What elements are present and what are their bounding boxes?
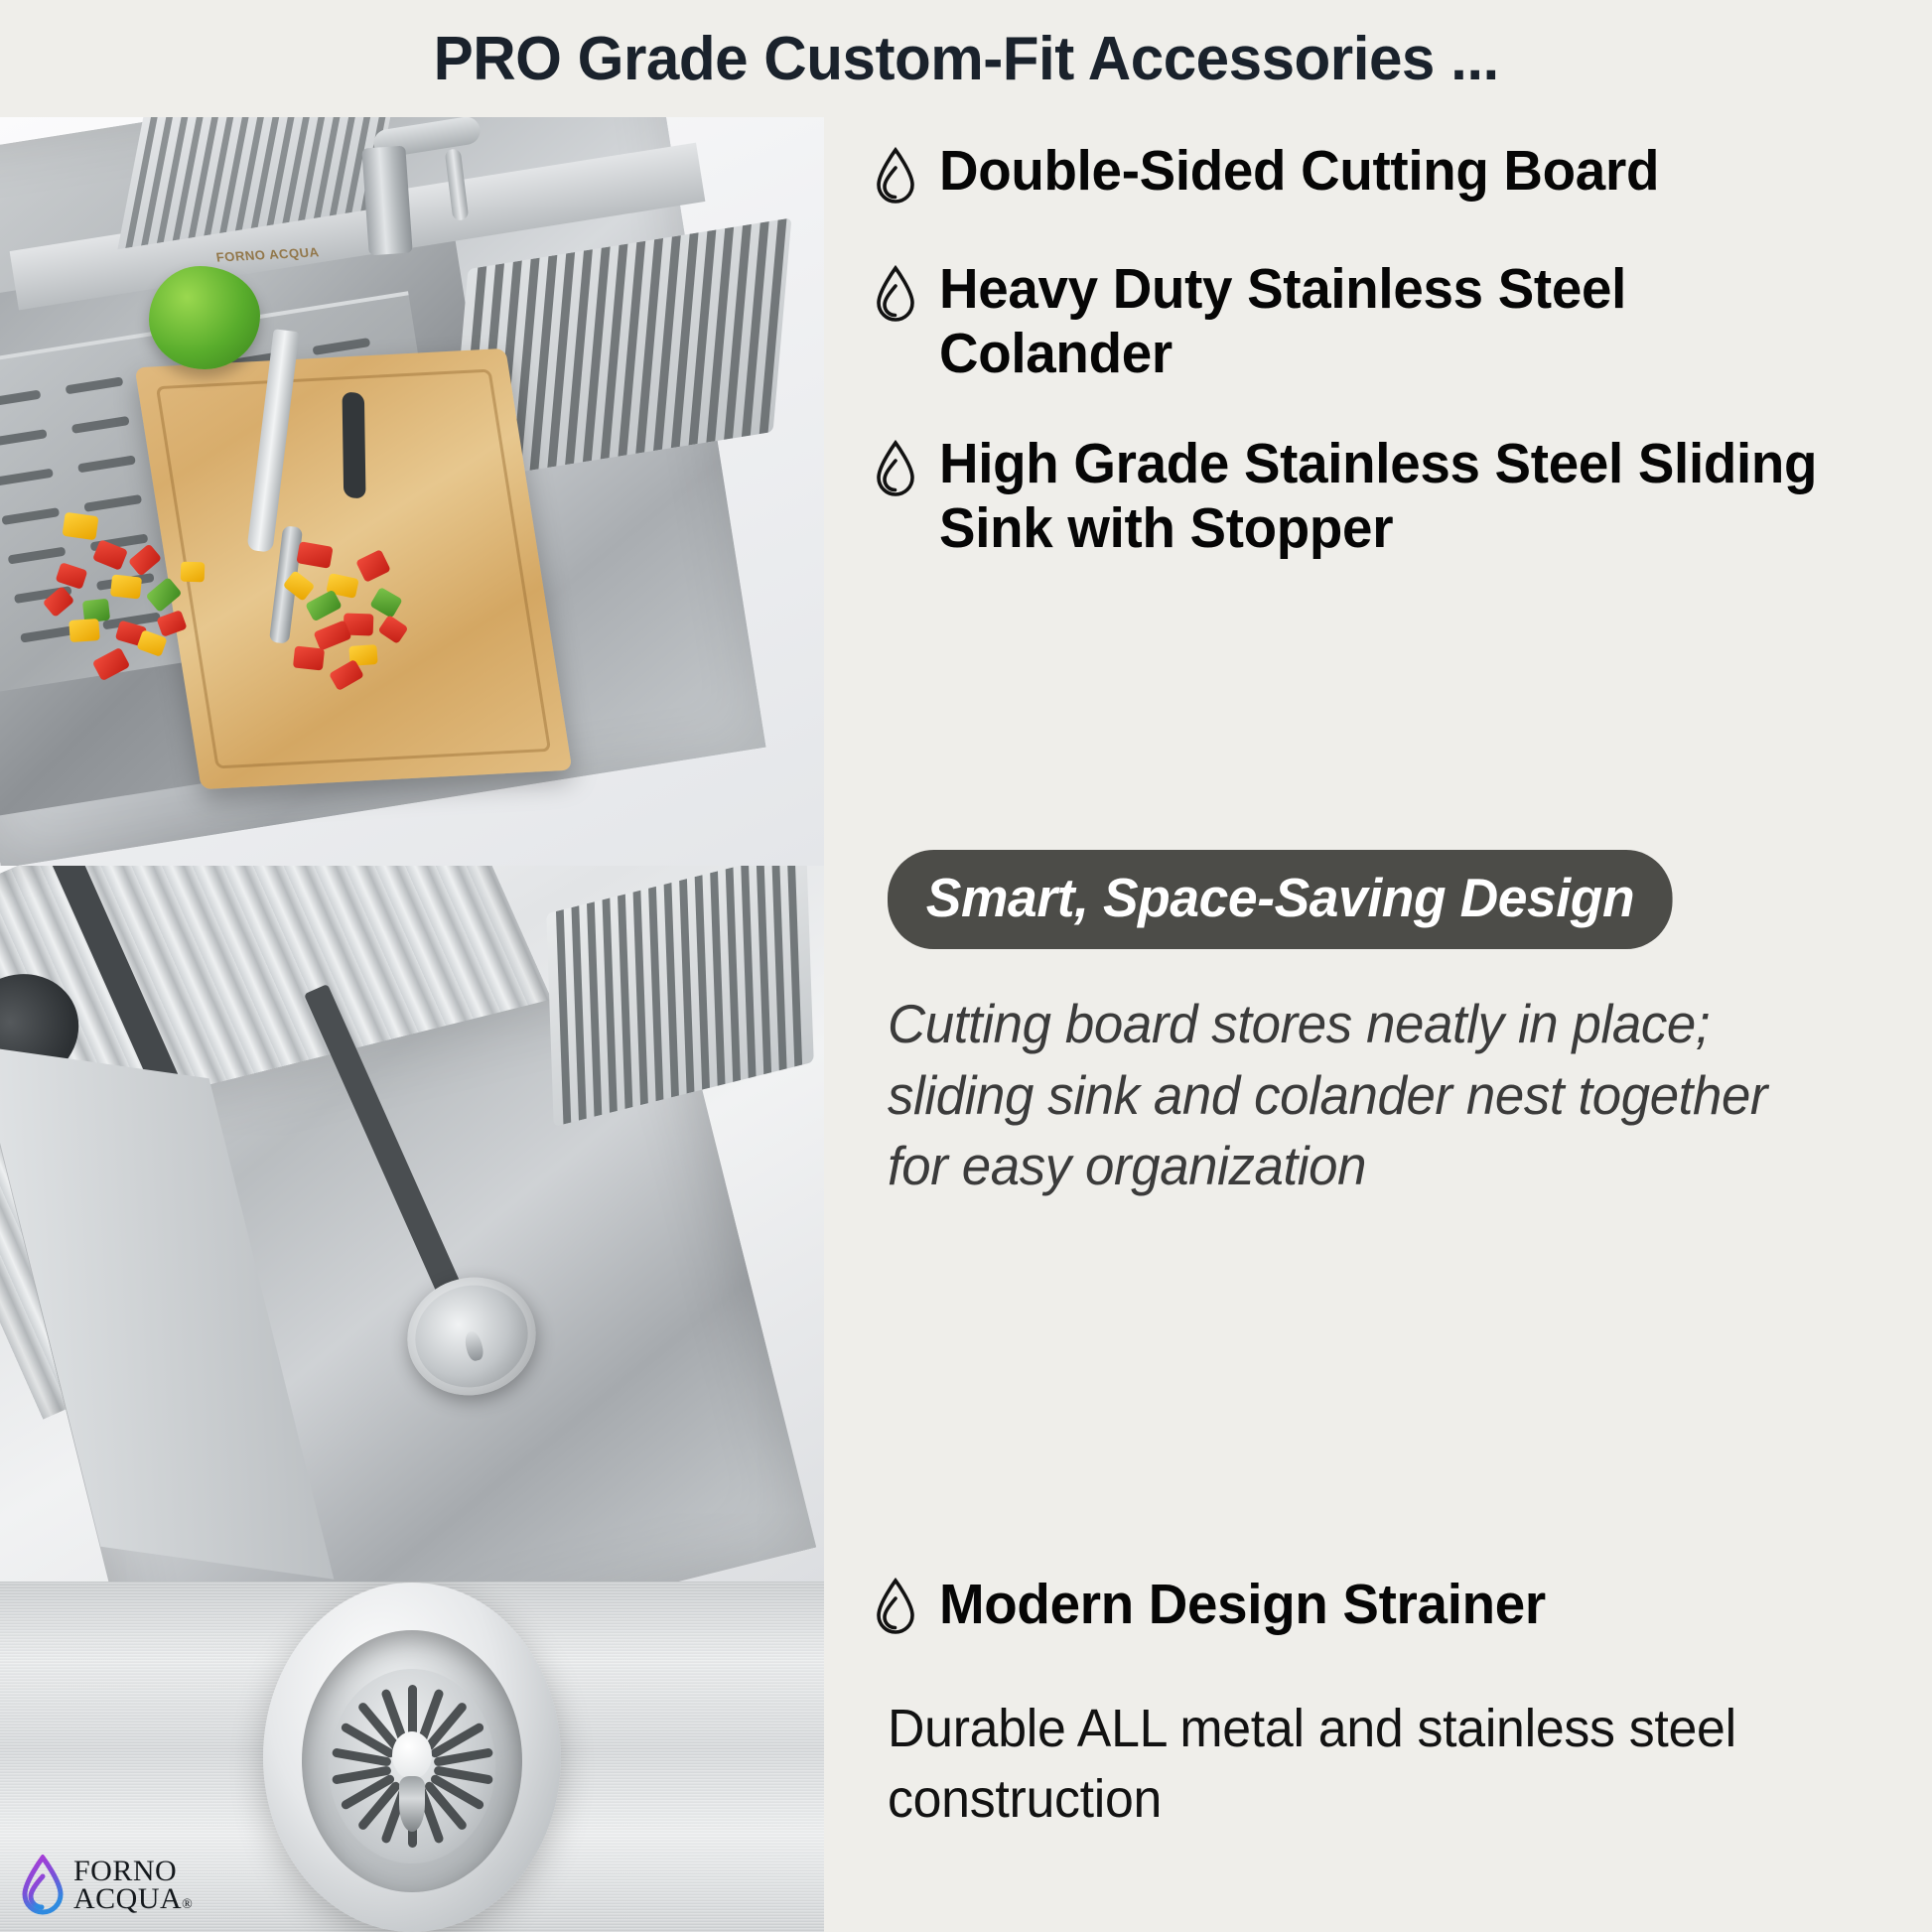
pepper-piece xyxy=(69,619,99,642)
strainer-knob xyxy=(463,1329,485,1362)
grid-bar xyxy=(679,879,694,1093)
strainer-description: Durable ALL metal and stainless steel co… xyxy=(888,1694,1865,1836)
faucet-body xyxy=(361,146,412,256)
colander-perforation xyxy=(66,376,124,394)
pepper-piece xyxy=(181,562,206,583)
pepper-piece xyxy=(62,512,98,540)
design-badge: Smart, Space-Saving Design xyxy=(888,850,1673,949)
grid-bar xyxy=(664,883,679,1097)
colander-perforation xyxy=(1,507,60,525)
colander-perforation xyxy=(313,338,371,355)
workstation-sink-cutting-board-photo: FORNO ACQUA xyxy=(0,117,824,866)
colander-perforation xyxy=(8,547,67,565)
logo-wordmark: FORNO ACQUA® xyxy=(73,1858,193,1913)
feature-list: Double-Sided Cutting Board Heavy Duty St… xyxy=(874,139,1906,607)
green-bell-pepper xyxy=(149,266,260,369)
forno-acqua-logo: FORNO ACQUA® xyxy=(20,1855,193,1916)
list-item: Heavy Duty Stainless Steel Colander xyxy=(874,257,1906,386)
strainer-heading-row: Modern Design Strainer xyxy=(874,1572,1906,1642)
list-item: Double-Sided Cutting Board xyxy=(874,139,1906,211)
grid-bar xyxy=(556,909,571,1124)
water-drop-icon xyxy=(874,147,917,211)
strainer-feature-block: Modern Design Strainer Durable ALL metal… xyxy=(874,1572,1906,1836)
content-column: Double-Sided Cutting Board Heavy Duty St… xyxy=(874,117,1906,1932)
colander-perforation xyxy=(0,429,48,447)
page-title: PRO Grade Custom-Fit Accessories ... xyxy=(433,24,1498,94)
colander-perforation xyxy=(77,455,136,473)
photo-column: FORNO ACQUA xyxy=(0,117,824,1932)
feature-label: High Grade Stainless Steel Sliding Sink … xyxy=(939,432,1867,561)
grid-bar xyxy=(771,866,786,1070)
grid-bar xyxy=(587,901,602,1116)
grid-bar xyxy=(571,905,586,1120)
feature-label: Heavy Duty Stainless Steel Colander xyxy=(939,257,1867,386)
strainer-stem xyxy=(399,1776,425,1832)
feature-label: Double-Sided Cutting Board xyxy=(939,139,1659,204)
colander-perforation xyxy=(0,469,54,486)
design-description: Cutting board stores neatly in place; sl… xyxy=(888,989,1841,1202)
grid-bar xyxy=(787,866,802,1066)
cutting-board-slot xyxy=(343,391,366,498)
logo-line-forno: FORNO xyxy=(73,1858,193,1885)
grid-bar xyxy=(741,866,756,1078)
grid-bar xyxy=(618,895,632,1109)
header-bar: PRO Grade Custom-Fit Accessories ... xyxy=(0,0,1932,117)
strainer-bowl xyxy=(302,1630,522,1892)
pepper-piece xyxy=(293,645,325,670)
grid-bar xyxy=(695,875,710,1089)
strainer-title: Modern Design Strainer xyxy=(939,1572,1546,1637)
logo-line-acqua: ACQUA® xyxy=(73,1885,193,1913)
grid-bar xyxy=(603,897,618,1112)
colander-perforation xyxy=(71,416,130,434)
grid-bar xyxy=(633,891,648,1105)
grid-bar xyxy=(710,871,725,1085)
strainer-center-cap xyxy=(392,1731,432,1779)
water-drop-icon xyxy=(874,1578,917,1642)
colander-perforation xyxy=(83,494,142,512)
pepper-piece xyxy=(110,574,142,599)
water-drop-icon xyxy=(874,265,917,330)
registered-mark: ® xyxy=(182,1897,193,1912)
gradient-water-drop-icon xyxy=(20,1855,66,1916)
sliding-sink-colander-nested-photo xyxy=(0,866,824,1582)
grid-bar xyxy=(648,887,663,1101)
water-drop-icon xyxy=(874,440,917,504)
grid-bar xyxy=(726,867,741,1081)
colander-perforation xyxy=(0,390,41,408)
list-item: High Grade Stainless Steel Sliding Sink … xyxy=(874,432,1906,561)
infographic-page: PRO Grade Custom-Fit Accessories ... xyxy=(0,0,1932,1932)
grid-bar xyxy=(757,866,771,1074)
